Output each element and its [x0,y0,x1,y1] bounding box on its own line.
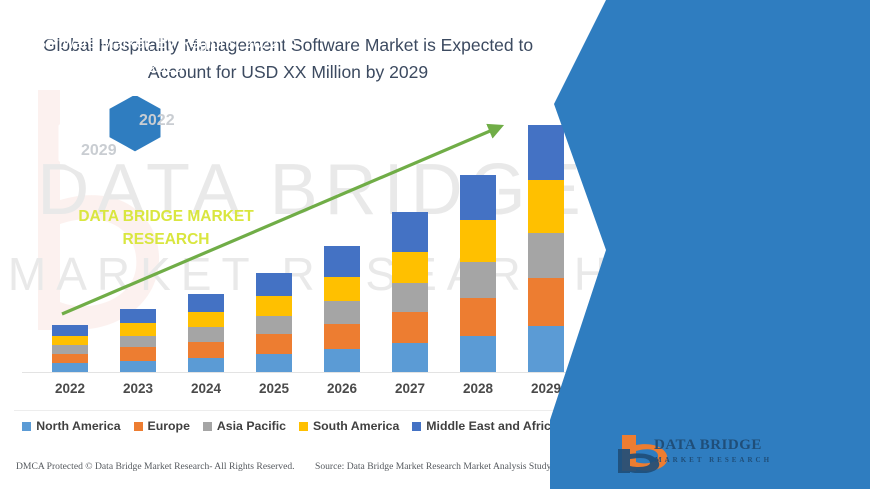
logo-name-text: DATA BRIDGE [654,437,762,454]
bar-segment-north-america [528,326,564,372]
bar-segment-middle-east-and-africa [256,273,292,296]
right-panel-title: Global Hospitality Management Software M… [30,8,302,80]
bar-segment-north-america [392,343,428,372]
bar-segment-north-america [460,336,496,372]
bar-2022 [52,325,88,372]
legend-swatch-icon [22,422,31,431]
legend-label: Asia Pacific [217,419,286,433]
bar-segment-south-america [392,252,428,283]
bar-segment-north-america [52,363,88,372]
bar-segment-north-america [188,358,224,372]
bar-segment-asia-pacific [324,301,360,324]
hexagon-2022-label: 2022 [139,112,175,130]
legend-label: South America [313,419,399,433]
x-tick-2025: 2025 [239,381,309,396]
legend-item-north-america[interactable]: North America [22,419,120,433]
bar-segment-middle-east-and-africa [460,175,496,221]
legend-item-asia-pacific[interactable]: Asia Pacific [203,419,286,433]
bar-segment-asia-pacific [52,345,88,354]
bar-segment-middle-east-and-africa [52,325,88,335]
bar-segment-middle-east-and-africa [528,125,564,180]
legend-label: Middle East and Africa [426,419,557,433]
bar-segment-europe [120,347,156,360]
hexagon-2029-label: 2029 [81,142,117,160]
brand-name-text: DATA BRIDGE MARKET RESEARCH [30,205,302,251]
bar-segment-middle-east-and-africa [120,309,156,323]
bar-2027 [392,212,428,372]
bar-segment-asia-pacific [460,262,496,297]
chart-legend: North AmericaEuropeAsia PacificSouth Ame… [0,419,580,433]
bar-segment-europe [324,324,360,349]
bar-segment-south-america [256,296,292,316]
x-tick-2022: 2022 [35,381,105,396]
bar-segment-europe [392,312,428,343]
x-tick-2027: 2027 [375,381,445,396]
x-axis-line [22,372,578,373]
bar-segment-south-america [52,336,88,346]
bar-segment-europe [528,278,564,327]
bar-segment-asia-pacific [120,336,156,347]
legend-divider [14,410,566,411]
bar-2023 [120,309,156,372]
x-tick-2026: 2026 [307,381,377,396]
bar-2029 [528,125,564,372]
bar-segment-north-america [324,349,360,372]
bar-segment-north-america [256,354,292,372]
bar-segment-middle-east-and-africa [188,294,224,312]
bar-segment-europe [256,334,292,354]
legend-label: North America [36,419,120,433]
legend-item-south-america[interactable]: South America [299,419,399,433]
bar-segment-middle-east-and-africa [324,246,360,277]
footer-dmca-text: DMCA Protected © Data Bridge Market Rese… [16,461,295,472]
x-tick-2028: 2028 [443,381,513,396]
bar-segment-europe [188,342,224,358]
bar-segment-north-america [120,361,156,372]
infographic-page: DATA BRIDGE MARKET RESEARCH Global Hospi… [0,0,870,489]
bar-2026 [324,246,360,372]
legend-swatch-icon [203,422,212,431]
bar-segment-europe [460,298,496,336]
legend-item-middle-east-and-africa[interactable]: Middle East and Africa [412,419,557,433]
bar-segment-south-america [324,277,360,302]
footer-source-text: Source: Data Bridge Market Research Mark… [315,461,573,472]
x-tick-2023: 2023 [103,381,173,396]
bar-segment-middle-east-and-africa [392,212,428,252]
brand-line-1: DATA BRIDGE MARKET [30,205,302,228]
logo-sub-text: MARKET RESEARCH [655,456,772,464]
brand-line-2: RESEARCH [30,228,302,251]
bar-2024 [188,294,224,372]
bar-segment-south-america [528,180,564,232]
legend-swatch-icon [299,422,308,431]
bar-segment-asia-pacific [528,233,564,278]
bar-segment-europe [52,354,88,364]
legend-swatch-icon [134,422,143,431]
bar-segment-asia-pacific [392,283,428,312]
bar-2025 [256,273,292,372]
bar-segment-south-america [460,220,496,262]
legend-swatch-icon [412,422,421,431]
x-tick-2024: 2024 [171,381,241,396]
bar-2028 [460,175,496,372]
bar-segment-south-america [188,312,224,327]
bar-segment-south-america [120,323,156,335]
legend-item-europe[interactable]: Europe [134,419,190,433]
legend-label: Europe [148,419,190,433]
bar-segment-asia-pacific [256,316,292,334]
bar-segment-asia-pacific [188,327,224,341]
